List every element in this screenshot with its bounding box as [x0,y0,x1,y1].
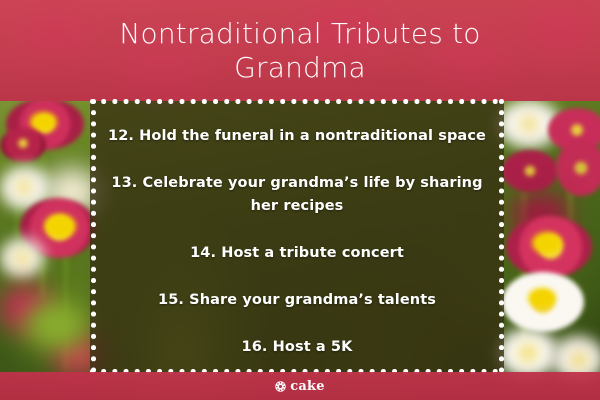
brand-name: cake [290,379,324,394]
list-item: 15. Share your grandma’s talents [96,289,498,312]
flower-white [498,328,558,378]
flower-white [0,238,44,278]
flower-center [532,232,562,254]
page-title: Nontraditional Tributes to Grandma [0,0,600,101]
flower-center [528,288,556,308]
tribute-list: 12. Hold the funeral in a nontraditional… [96,101,498,372]
panel-border-right [499,99,504,375]
page-title-line-1: Nontraditional Tributes to [119,17,480,51]
flower-pink [556,140,600,196]
list-item: 13. Celebrate your grandma’s life by sha… [96,172,498,218]
page-title-line-2: Grandma [234,51,366,85]
brand-logo[interactable]: cake [0,372,600,400]
infographic-card: Nontraditional Tributes to Grandma 12. H… [0,0,600,400]
flower-pink [0,128,46,162]
list-item: 14. Host a tribute concert [96,242,498,265]
flower-center [30,112,57,132]
flower-pink [502,150,558,192]
rosette-flower-icon [275,381,286,392]
list-item: 12. Hold the funeral in a nontraditional… [96,125,498,148]
list-item: 16. Host a 5K [96,336,498,359]
flower-center [44,214,76,238]
foliage-leaf [22,300,92,350]
